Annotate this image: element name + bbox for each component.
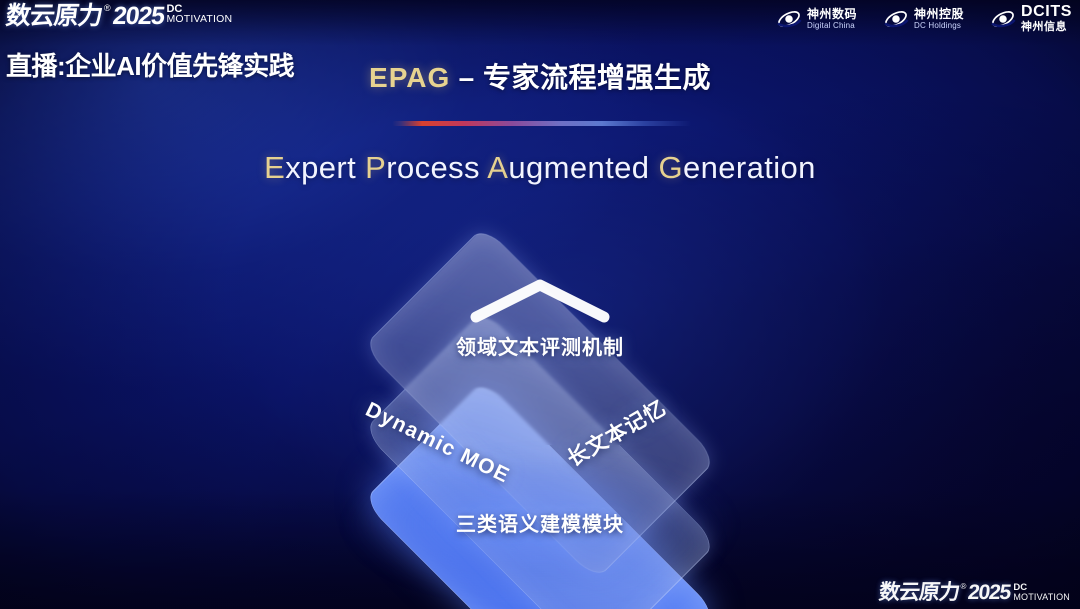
watermark-name-cn: 数云原力 bbox=[877, 581, 960, 605]
gradient-divider bbox=[392, 121, 692, 126]
partner-text: 神州数码 Digital China bbox=[807, 8, 857, 30]
watermark-dc-motivation: DC MOTIVATION bbox=[1013, 583, 1070, 602]
partner-logo-dc-holdings: 神州控股 DC Holdings bbox=[883, 8, 964, 30]
layer-top-label: 领域文本评测机制 bbox=[0, 331, 1080, 360]
title-acronym: EPAG bbox=[369, 62, 450, 93]
subtitle-word-generation: eneration bbox=[683, 150, 816, 185]
brand-logo: 数云原力 ® 2025 DC MOTIVATION bbox=[6, 2, 232, 30]
partner-text: 神州控股 DC Holdings bbox=[914, 8, 964, 30]
subtitle-cap-p: P bbox=[365, 150, 386, 185]
chevron-up-icon bbox=[468, 277, 612, 323]
title-chinese: – 专家流程增强生成 bbox=[450, 62, 711, 93]
partner-name-en: DCITS bbox=[1021, 4, 1072, 20]
brand-dc-motivation: DC MOTIVATION bbox=[166, 4, 232, 25]
swoosh-icon bbox=[883, 8, 909, 30]
swoosh-icon bbox=[776, 8, 802, 30]
partner-logo-group: 神州数码 Digital China 神州控股 DC Holdings bbox=[776, 4, 1072, 33]
layer-bottom-label: 三类语义建模模块 bbox=[0, 508, 1080, 537]
partner-name-cn: 神州数码 bbox=[807, 8, 857, 20]
slide-subtitle: Expert Process Augmented Generation bbox=[0, 150, 1080, 186]
slide-canvas: 数云原力 ® 2025 DC MOTIVATION 直播:企业AI价值先锋实践 … bbox=[0, 0, 1080, 609]
subtitle-cap-g: G bbox=[658, 150, 683, 185]
brand-motivation-label: MOTIVATION bbox=[166, 14, 232, 25]
subtitle-cap-a: A bbox=[487, 150, 508, 185]
partner-name-en: Digital China bbox=[807, 22, 857, 30]
swoosh-icon bbox=[990, 8, 1016, 30]
partner-name-cn: 神州信息 bbox=[1021, 22, 1072, 33]
subtitle-word-process: rocess bbox=[386, 150, 487, 185]
watermark-year: 2025 bbox=[967, 581, 1012, 605]
subtitle-word-expert: xpert bbox=[285, 150, 365, 185]
watermark-registered-mark: ® bbox=[961, 581, 967, 593]
watermark-motivation-label: MOTIVATION bbox=[1013, 592, 1070, 602]
subtitle-word-augmented: ugmented bbox=[508, 150, 658, 185]
partner-text: DCITS 神州信息 bbox=[1021, 4, 1072, 33]
subtitle-cap-e: E bbox=[264, 150, 285, 185]
registered-mark: ® bbox=[104, 2, 111, 14]
partner-name-en: DC Holdings bbox=[914, 22, 964, 30]
partner-logo-dcits: DCITS 神州信息 bbox=[990, 4, 1072, 33]
partner-logo-digital-china: 神州数码 Digital China bbox=[776, 8, 857, 30]
partner-name-cn: 神州控股 bbox=[914, 8, 964, 20]
watermark-dc-label: DC bbox=[1013, 583, 1070, 592]
brand-year: 2025 bbox=[111, 2, 165, 30]
brand-watermark: 数云原力 ® 2025 DC MOTIVATION bbox=[879, 581, 1071, 605]
live-stream-title: 直播:企业AI价值先锋实践 bbox=[6, 46, 294, 83]
brand-name-cn: 数云原力 bbox=[4, 2, 103, 30]
